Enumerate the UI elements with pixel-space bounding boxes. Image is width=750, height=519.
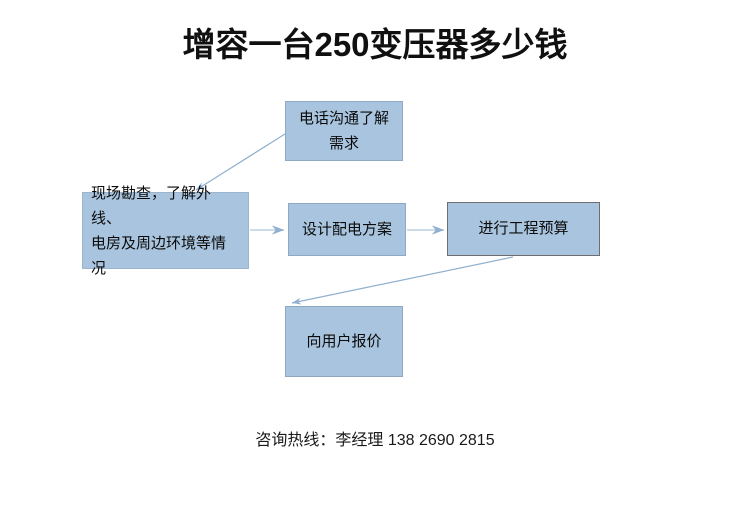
- page-title: 增容一台250变压器多少钱: [0, 24, 750, 66]
- flow-node-project-budget-label: 进行工程预算: [472, 217, 574, 241]
- contact-hotline-text: 咨询热线：李经理 138 2690 2815: [0, 429, 750, 453]
- flow-node-design-plan-label: 设计配电方案: [296, 218, 398, 242]
- flow-node-customer-quote[interactable]: 向用户报价: [285, 306, 403, 377]
- flow-node-customer-quote-label: 向用户报价: [300, 330, 387, 354]
- flow-node-project-budget[interactable]: 进行工程预算: [447, 202, 600, 256]
- diagram-canvas: 增容一台250变压器多少钱 电话沟通了解需求 现场勘查，了解外线、 电房及周边环…: [0, 0, 750, 519]
- arrow-budget-to-quote: [292, 257, 513, 303]
- flow-node-design-plan[interactable]: 设计配电方案: [288, 203, 406, 256]
- flow-node-phone-consult-label: 电话沟通了解需求: [286, 106, 402, 156]
- flow-node-phone-consult[interactable]: 电话沟通了解需求: [285, 101, 403, 161]
- flow-node-site-survey-label: 现场勘查，了解外线、 电房及周边环境等情况: [83, 181, 248, 281]
- flow-node-site-survey[interactable]: 现场勘查，了解外线、 电房及周边环境等情况: [82, 192, 249, 269]
